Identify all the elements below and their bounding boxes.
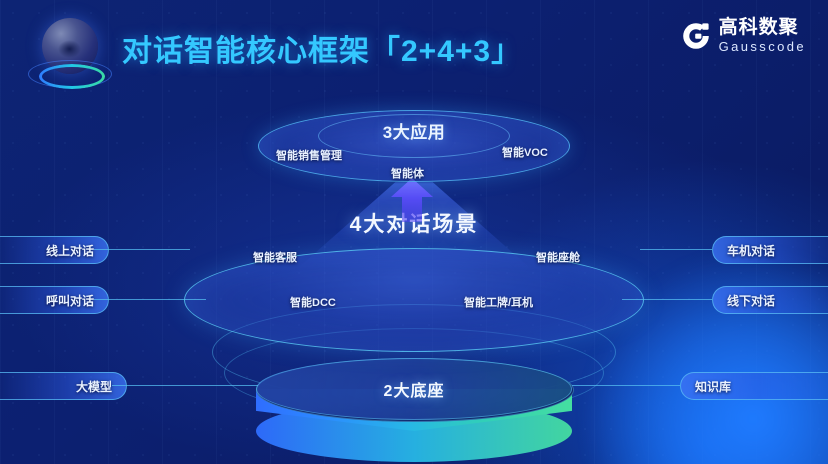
side-label-offline-dialogue[interactable]: 线下对话	[712, 286, 828, 314]
brand-name-en: Gausscode	[719, 40, 806, 53]
application-label-voc: 智能VOC	[502, 144, 548, 160]
application-layer-title: 3大应用	[258, 118, 570, 143]
gradient-ring-icon	[39, 64, 105, 89]
connector-knowledge-base	[572, 385, 680, 386]
scene-label-badge-headset: 智能工牌/耳机	[464, 294, 533, 310]
connector-large-model	[112, 385, 258, 386]
application-label-sales-management: 智能销售管理	[276, 147, 342, 163]
connector-online-dialogue	[94, 249, 190, 250]
base-layer-title: 2大底座	[256, 377, 572, 401]
side-label-large-model[interactable]: 大模型	[0, 372, 127, 400]
gausscode-g-mark-icon	[681, 21, 711, 51]
page-title: 对话智能核心框架「2+4+3」	[122, 26, 522, 70]
connector-call-dialogue	[94, 299, 206, 300]
framework-diagram: 2大底座 4大对话场景 智能客服 智能座舱 智能DCC 智能工牌/耳机	[0, 96, 828, 464]
slide-canvas: 对话智能核心框架「2+4+3」 高科数聚 Gausscode 2大底座	[0, 0, 828, 464]
up-arrow-icon	[389, 178, 435, 222]
side-label-call-dialogue[interactable]: 呼叫对话	[0, 286, 109, 314]
scene-label-customer-service: 智能客服	[253, 249, 297, 265]
side-label-online-dialogue[interactable]: 线上对话	[0, 236, 109, 264]
side-label-invehicle-dialogue[interactable]: 车机对话	[712, 236, 828, 264]
brand-name-cn: 高科数聚	[719, 18, 806, 37]
slide-header: 对话智能核心框架「2+4+3」 高科数聚 Gausscode	[0, 0, 828, 96]
brand-logo: 高科数聚 Gausscode	[681, 18, 806, 53]
scene-label-cockpit: 智能座舱	[536, 249, 580, 265]
application-label-agent: 智能体	[391, 165, 424, 181]
scene-label-dcc: 智能DCC	[290, 294, 336, 310]
connector-invehicle-dialogue	[640, 249, 712, 250]
connector-offline-dialogue	[622, 299, 712, 300]
sphere-on-ring-logo	[28, 16, 110, 98]
brand-text: 高科数聚 Gausscode	[719, 18, 806, 53]
side-label-knowledge-base[interactable]: 知识库	[680, 372, 828, 400]
